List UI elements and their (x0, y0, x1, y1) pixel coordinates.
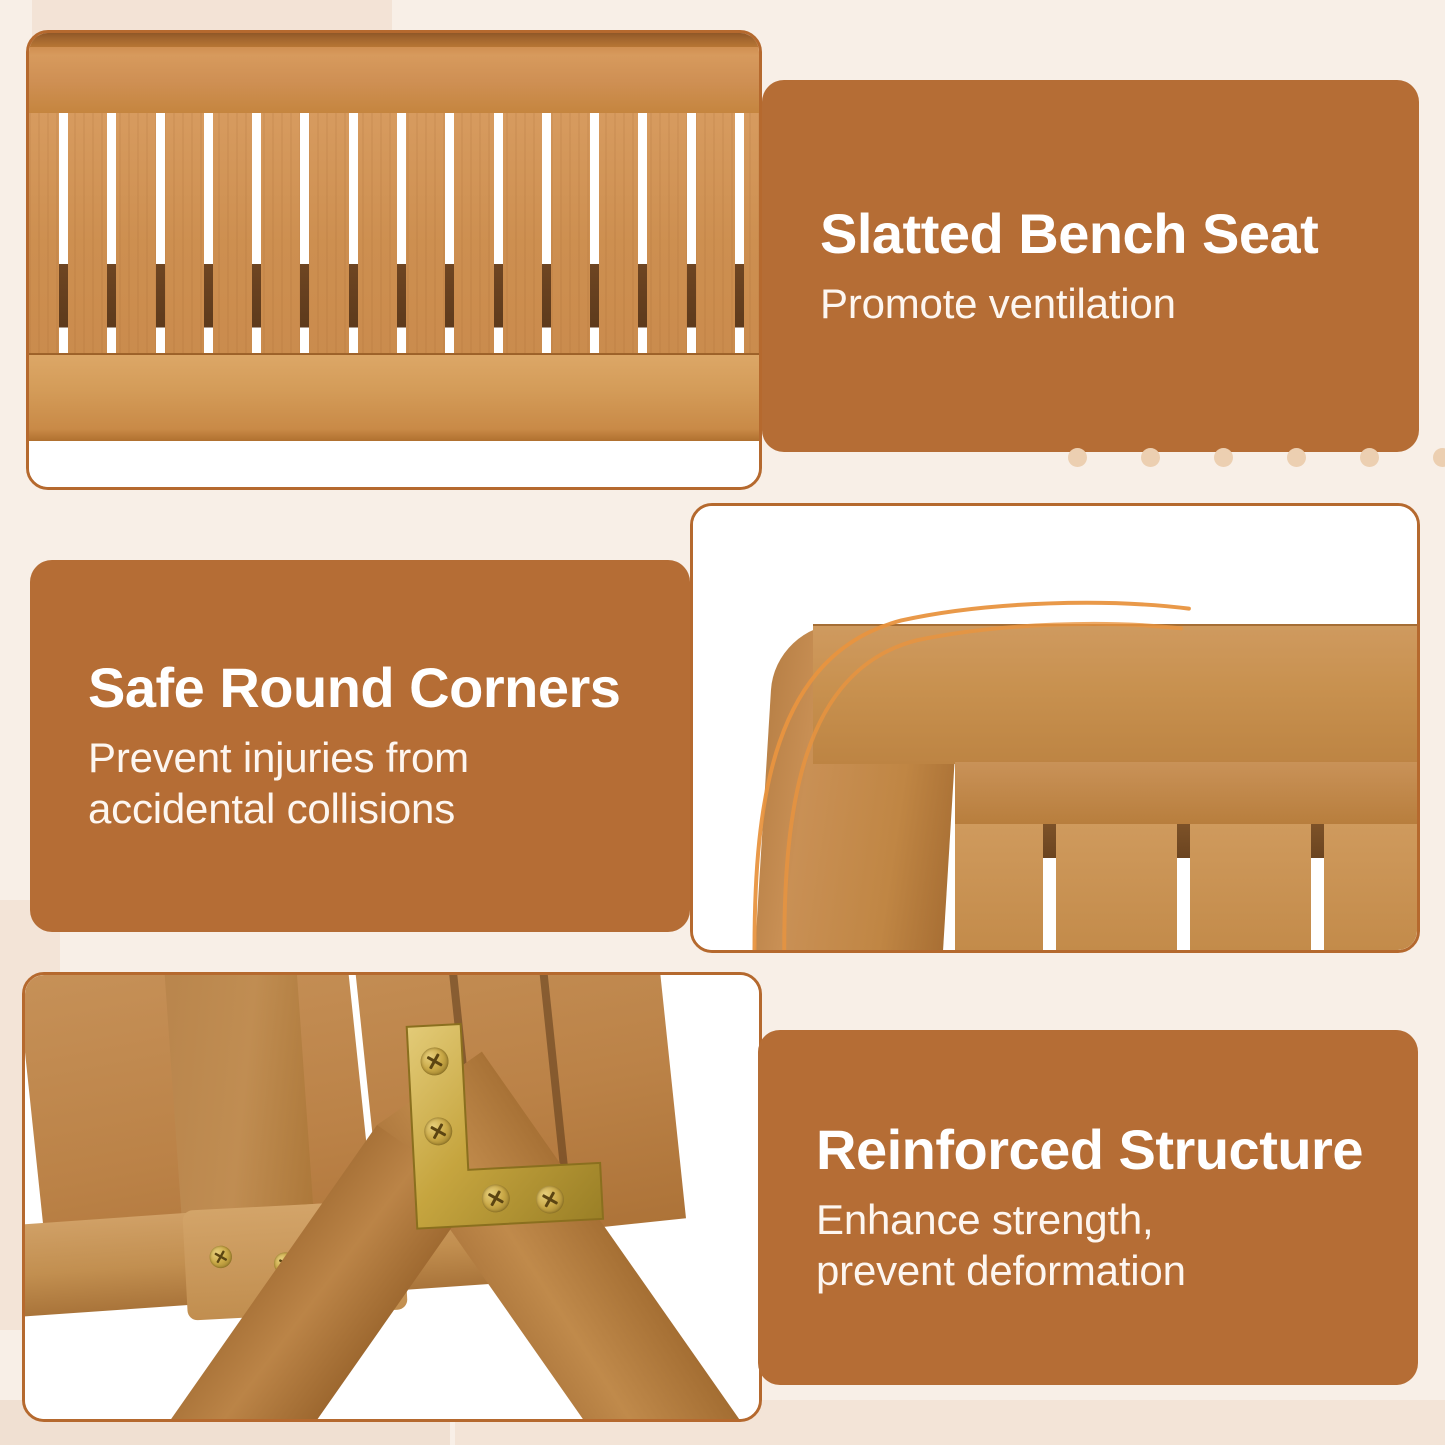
bench-slat-shadow (1311, 824, 1324, 858)
feature-card-reinforced-structure: Reinforced Structure Enhance strength, p… (758, 1030, 1418, 1385)
decorative-dot (1360, 448, 1379, 467)
feature-subtitle-slatted-bench-seat: Promote ventilation (820, 278, 1361, 329)
bench-seat-rail (955, 762, 1417, 824)
subtitle-line-2: prevent deformation (816, 1247, 1186, 1294)
feature-card-slatted-bench-seat: Slatted Bench Seat Promote ventilation (762, 80, 1419, 452)
decorative-dot (1287, 448, 1306, 467)
screw-icon (209, 1245, 233, 1269)
decorative-dot (1433, 448, 1445, 467)
decorative-dot (1141, 448, 1160, 467)
subtitle-line-2: accidental collisions (88, 785, 455, 832)
bench-slat-field (955, 824, 1417, 950)
feature-subtitle-reinforced-structure: Enhance strength, prevent deformation (816, 1194, 1360, 1296)
feature-subtitle-safe-round-corners: Prevent injuries from accidental collisi… (88, 732, 632, 834)
feature-title-reinforced-structure: Reinforced Structure (816, 1119, 1360, 1182)
bench-slat-shadow (1043, 824, 1056, 858)
rounded-corner-photo (690, 503, 1420, 953)
subtitle-line-1: Enhance strength, (816, 1196, 1154, 1243)
bench-top-rail (813, 624, 1417, 764)
infographic-canvas: Slatted Bench Seat Promote ventilation S… (0, 0, 1445, 1445)
reinforced-bracket-photo (22, 972, 762, 1422)
photo-white-margin (29, 441, 759, 487)
decorative-dot (1214, 448, 1233, 467)
decorative-dot-row (1068, 448, 1445, 467)
brass-l-bracket (403, 1019, 488, 1272)
bench-seat-illustration (29, 33, 759, 487)
feature-card-safe-round-corners: Safe Round Corners Prevent injuries from… (30, 560, 690, 932)
rounded-corner-illustration (693, 506, 1417, 950)
feature-title-safe-round-corners: Safe Round Corners (88, 657, 632, 720)
subtitle-line-1: Prevent injuries from (88, 734, 469, 781)
slatted-bench-seat-photo (26, 30, 762, 490)
seat-top-rail (29, 33, 759, 113)
feature-title-slatted-bench-seat: Slatted Bench Seat (820, 203, 1361, 266)
seat-bottom-rail (29, 353, 759, 441)
reinforced-structure-illustration (25, 975, 759, 1419)
decorative-dot (1068, 448, 1087, 467)
bench-slat-shadow (1177, 824, 1190, 858)
